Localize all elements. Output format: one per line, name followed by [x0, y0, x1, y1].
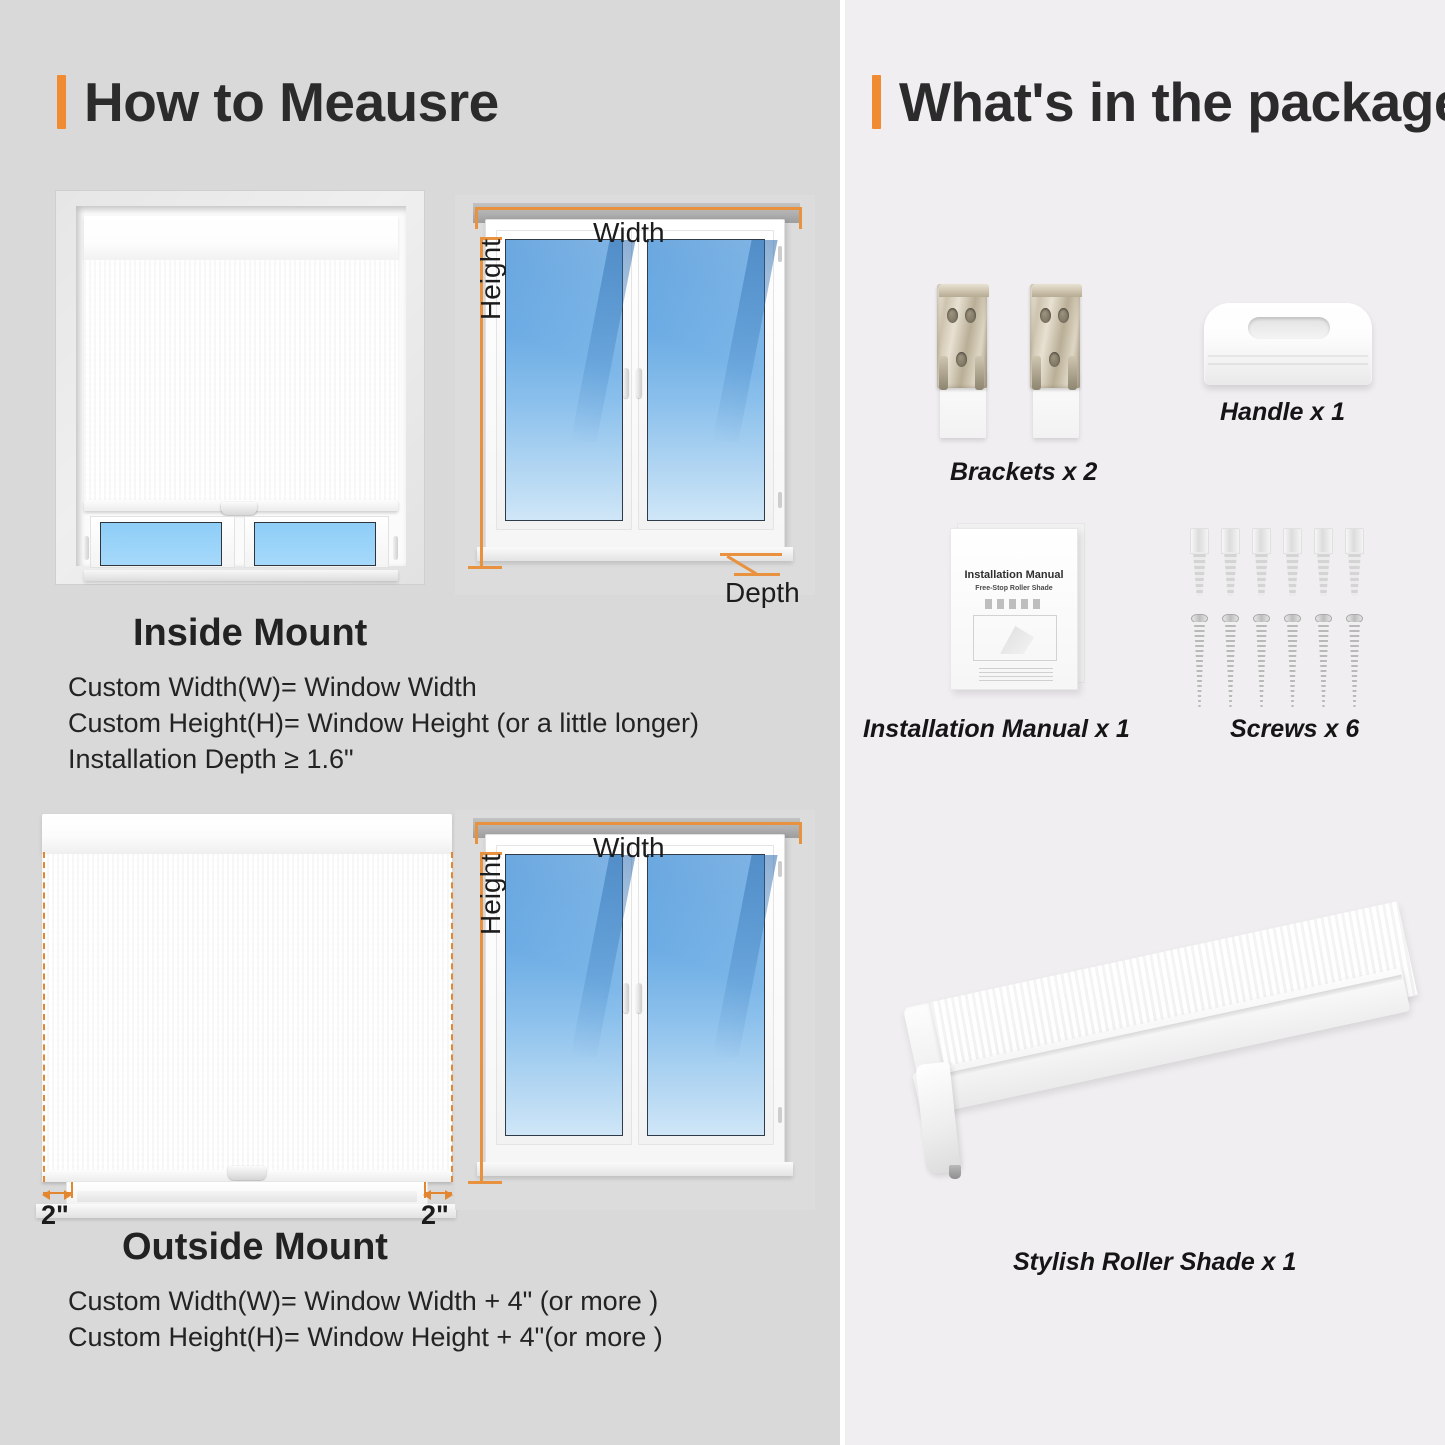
screw-icon [1315, 614, 1332, 710]
bracket-slot [1068, 356, 1077, 390]
wall-anchor-icon [1221, 528, 1240, 596]
window-sash-right [638, 230, 774, 530]
handle-ridge [1208, 355, 1368, 357]
outside-mount-measure-diagram: Width Height [455, 810, 815, 1210]
brackets-caption: Brackets x 2 [950, 458, 1097, 487]
shade-cassette [42, 814, 452, 854]
window-glass-right [647, 239, 765, 521]
window-handle-left-icon [623, 368, 629, 398]
inside-mount-title: Inside Mount [133, 612, 367, 655]
window-frame [485, 219, 785, 549]
window-hinge-top-icon [778, 246, 782, 262]
overhang-arrow-right [424, 1192, 452, 1194]
manual-cover-scribble [985, 599, 1045, 609]
inside-mount-measure-diagram: Width Height Depth [455, 195, 815, 595]
bracket-top-flange [1032, 284, 1082, 297]
how-to-measure-heading: How to Meausre [57, 70, 499, 134]
bracket-icon [1028, 278, 1082, 438]
infographic-page: How to Meausre [0, 0, 1445, 1445]
overhang-label-left: 2" [41, 1200, 69, 1231]
handle-icon [1204, 303, 1372, 385]
window-glass-left [505, 854, 623, 1136]
wall-anchor-icon [1314, 528, 1333, 596]
bracket-metal-body [937, 284, 987, 388]
package-item-roller-shade [895, 865, 1435, 1215]
wall-anchor-icon [1190, 528, 1209, 596]
inside-mount-spec-height: Custom Height(H)= Window Height (or a li… [68, 708, 699, 739]
manual-cover-title: Installation Manual [951, 569, 1077, 581]
bracket-metal-body [1030, 284, 1080, 388]
manual-icon: Installation Manual Free-Stop Roller Sha… [950, 528, 1078, 690]
handle-grip-hole [1248, 317, 1330, 339]
bracket-hole [1040, 308, 1051, 323]
window-handle-right-icon [636, 368, 642, 398]
width-guide-cap-left [475, 822, 478, 844]
shade-fabric [84, 260, 398, 500]
window-hinge-bottom-icon [778, 492, 782, 508]
package-heading: What's in the package [872, 70, 1445, 134]
overhang-guide-right [451, 852, 453, 1182]
window-hinge-top-icon [778, 861, 782, 877]
overhang-tick-right [424, 1182, 426, 1198]
bracket-hole [965, 308, 976, 323]
manual-cover-figure [973, 615, 1057, 661]
window-glass-left [505, 239, 623, 521]
overhang-arrow-left [43, 1192, 71, 1194]
width-label: Width [593, 217, 665, 249]
manual-caption: Installation Manual x 1 [863, 715, 1130, 744]
wall-anchor-icon [1283, 528, 1302, 596]
bracket-slot [975, 356, 984, 390]
inside-mount-spec-width: Custom Width(W)= Window Width [68, 672, 477, 703]
window-sill [36, 1204, 456, 1218]
window-hinge-bottom-icon [778, 1107, 782, 1123]
wall-anchor-icon [1345, 528, 1364, 596]
outside-mount-title: Outside Mount [122, 1226, 388, 1269]
width-label: Width [593, 832, 665, 864]
window-glass-left [100, 522, 222, 566]
accent-bar-icon [872, 75, 881, 129]
handle-ridge [1208, 363, 1368, 365]
height-label: Height [475, 854, 507, 935]
outside-mount-spec-width: Custom Width(W)= Window Width + 4" (or m… [68, 1286, 658, 1317]
height-guide-cap-bottom [468, 1181, 502, 1184]
window-sash-right [638, 845, 774, 1145]
handle-caption: Handle x 1 [1220, 398, 1345, 427]
overhang-tick-left [71, 1182, 73, 1198]
bracket-slot [939, 356, 948, 390]
width-guide-cap-right [799, 822, 802, 844]
screw-icon [1346, 614, 1363, 710]
depth-label: Depth [725, 577, 800, 609]
overhang-guide-left [43, 852, 45, 1182]
window-below-inner [77, 1191, 417, 1202]
bracket-icon [935, 278, 989, 438]
window-glass-right [647, 854, 765, 1136]
bracket-slot [1032, 356, 1041, 390]
window-sash-left [496, 230, 632, 530]
wall-anchor-icon [1252, 528, 1271, 596]
window-recess [76, 206, 406, 566]
roller-shade-pin [949, 1165, 961, 1179]
window-glass-right [254, 522, 376, 566]
bracket-hole [956, 352, 967, 367]
screw-icon [1284, 614, 1301, 710]
window-handle-right-icon [393, 536, 398, 560]
outside-mount-shade-illustration: 2" 2" [0, 800, 450, 1220]
bracket-hole [1049, 352, 1060, 367]
screws-caption: Screws x 6 [1230, 715, 1359, 744]
width-guide-line [475, 822, 800, 825]
accent-bar-icon [57, 75, 66, 129]
window-frame [485, 834, 785, 1164]
window-sill [84, 570, 398, 581]
inside-mount-shade-illustration [55, 190, 425, 585]
how-to-measure-panel: How to Meausre [0, 0, 840, 1445]
bracket-hole [947, 308, 958, 323]
shade-cassette [84, 216, 398, 260]
height-label: Height [475, 239, 507, 320]
bracket-top-flange [939, 284, 989, 297]
manual-cover-footer-lines [979, 667, 1053, 681]
manual-cover-subtitle: Free-Stop Roller Shade [951, 585, 1077, 592]
width-guide-line [475, 207, 800, 210]
package-contents-panel: What's in the package [845, 0, 1445, 1445]
how-to-measure-title: How to Meausre [84, 70, 499, 134]
package-title: What's in the package [899, 70, 1445, 134]
outside-mount-spec-height: Custom Height(H)= Window Height + 4"(or … [68, 1322, 663, 1353]
bracket-hole [1058, 308, 1069, 323]
screw-icon [1253, 614, 1270, 710]
window-sash-left [496, 845, 632, 1145]
width-guide-cap-right [799, 207, 802, 229]
window-handle-left-icon [623, 983, 629, 1013]
inside-mount-spec-depth: Installation Depth ≥ 1.6" [68, 744, 354, 775]
height-guide-cap-bottom [468, 566, 502, 569]
window-handle-right-icon [636, 983, 642, 1013]
window-handle-left-icon [84, 536, 89, 560]
shade-fabric [42, 854, 452, 1174]
screw-icon [1191, 614, 1208, 710]
window-sill [477, 1162, 793, 1176]
overhang-label-right: 2" [421, 1200, 449, 1231]
width-guide-cap-left [475, 207, 478, 229]
shade-pull-handle [228, 1166, 266, 1180]
depth-guide-marker [720, 553, 782, 575]
screw-icon [1222, 614, 1239, 710]
shade-pull-handle [221, 502, 257, 515]
roller-shade-caption: Stylish Roller Shade x 1 [1013, 1248, 1296, 1277]
